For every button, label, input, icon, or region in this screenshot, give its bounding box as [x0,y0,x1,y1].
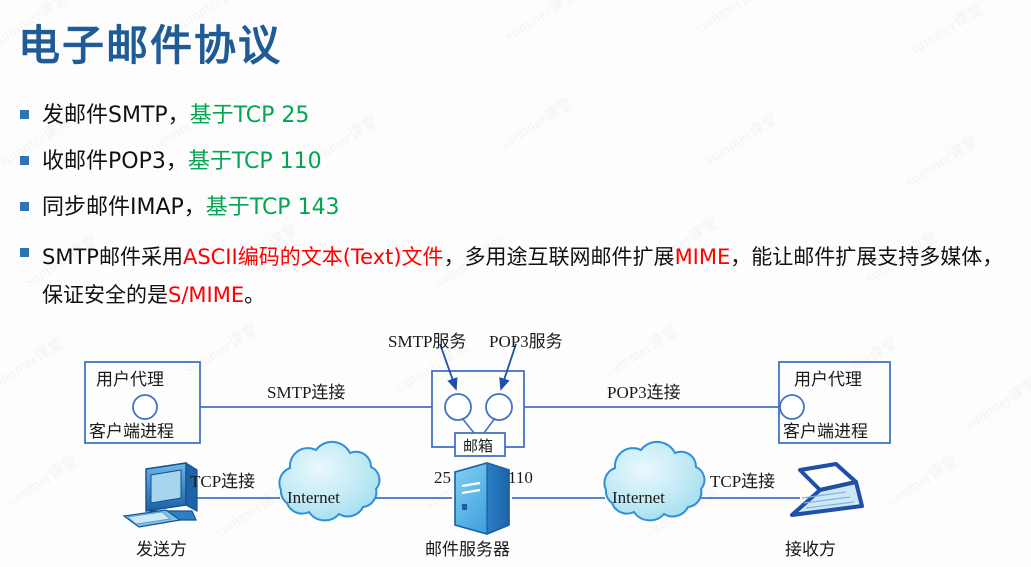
bullet-plain-text: 。 [244,283,265,307]
list-item: 同步邮件IMAP，基于TCP 143 [20,192,1010,224]
bullet-highlight-text: ASCII编码的文本(Text)文件 [183,245,444,269]
bullet-plain-text: SMTP邮件采用 [42,245,183,269]
watermark-text: summer课堂 [906,0,987,59]
smtp-connection-label: SMTP连接 [267,378,345,403]
left-user-agent-bottom-label: 客户端进程 [89,417,174,442]
internet-cloud-left [279,442,379,521]
bullet-square-icon [20,110,29,119]
bullet-square-icon [20,202,29,211]
mail-server-icon [455,463,509,534]
bullet-square-icon [20,156,29,165]
bullet-highlight-text: 基于TCP 143 [206,195,340,220]
watermark-text: summer课堂 [691,0,772,37]
bullet-list: 发邮件SMTP，基于TCP 25 收邮件POP3，基于TCP 110 同步邮件I… [20,100,1010,328]
smtp-to-mailbox-line [462,418,474,433]
page-title: 电子邮件协议 [18,12,282,73]
tcp-connection-label-left: TCP连接 [190,467,255,492]
diagram-canvas [0,320,1031,567]
bullet-plain-text: ，多用途互联网邮件扩展 [444,245,675,269]
laptop-icon [792,464,862,515]
internet-cloud-left-label: Internet [287,488,340,508]
bullet-text: 收邮件POP3，基于TCP 110 [42,146,322,178]
mailbox-label: 邮箱 [463,435,493,456]
bullet-plain-text: 同步邮件IMAP， [42,195,206,220]
pop3-service-label: POP3服务 [489,327,563,352]
internet-cloud-right [604,442,704,521]
bullet-square-icon [20,248,29,257]
bullet-plain-text: 发邮件SMTP， [42,103,190,128]
left-client-process-circle [133,395,157,419]
list-item: SMTP邮件采用ASCII编码的文本(Text)文件，多用途互联网邮件扩展MIM… [20,238,1010,314]
bullet-text: SMTP邮件采用ASCII编码的文本(Text)文件，多用途互联网邮件扩展MIM… [42,238,1010,314]
bullet-highlight-text: 基于TCP 110 [188,149,322,174]
tcp-connection-label-right: TCP连接 [710,467,775,492]
bullet-text: 同步邮件IMAP，基于TCP 143 [42,192,340,224]
right-client-process-circle [780,395,804,419]
pop3-service-circle [486,394,512,420]
port-110-label: 110 [508,468,533,488]
smtp-service-label: SMTP服务 [388,327,466,352]
right-user-agent-top-label: 用户代理 [794,365,862,390]
smtp-service-circle [445,394,471,420]
internet-cloud-right-label: Internet [612,488,665,508]
bullet-highlight-text: S/MIME [168,283,244,307]
mail-server-label: 邮件服务器 [425,535,510,560]
pop3-connection-label: POP3连接 [607,378,681,403]
list-item: 发邮件SMTP，基于TCP 25 [20,100,1010,132]
bullet-text: 发邮件SMTP，基于TCP 25 [42,100,309,132]
right-user-agent-bottom-label: 客户端进程 [783,417,868,442]
port-25-label: 25 [434,468,451,488]
left-user-agent-top-label: 用户代理 [96,365,164,390]
receiver-label: 接收方 [785,535,836,560]
desktop-computer-icon [124,463,197,527]
watermark-text: summer课堂 [501,0,582,45]
bullet-highlight-text: 基于TCP 25 [190,103,310,128]
bullet-plain-text: 收邮件POP3， [42,149,188,174]
sender-label: 发送方 [136,535,187,560]
bullet-highlight-text: MIME [675,245,731,269]
pop3-to-mailbox-line [484,418,495,433]
email-protocol-diagram: 用户代理 客户端进程 用户代理 客户端进程 SMTP服务 POP3服务 邮箱 S… [0,320,1031,567]
list-item: 收邮件POP3，基于TCP 110 [20,146,1010,178]
